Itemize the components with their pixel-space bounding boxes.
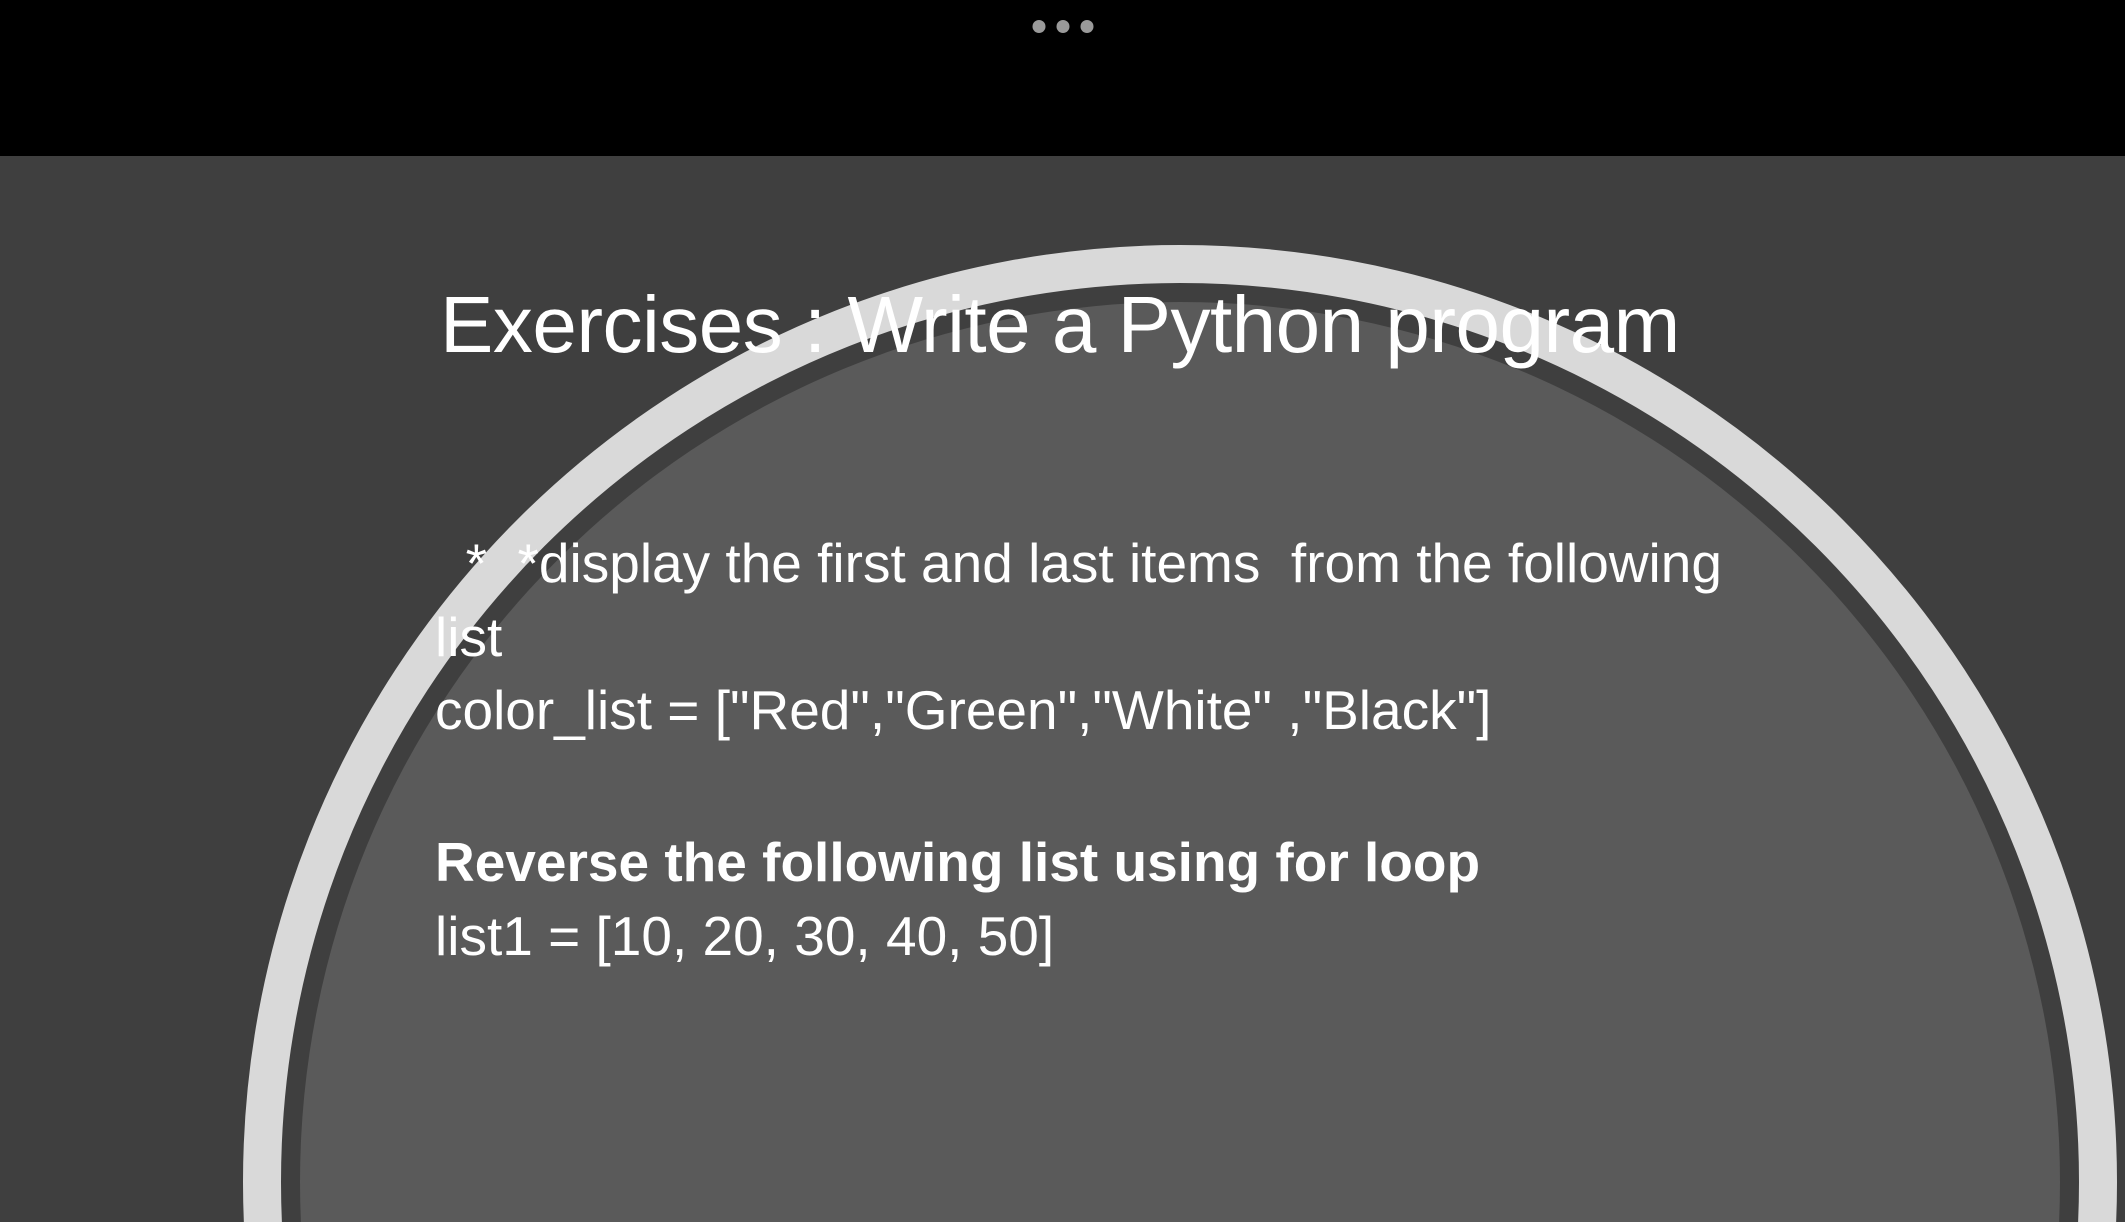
slide-viewer: Exercises : Write a Python program * *di… — [0, 0, 2125, 1222]
slide-canvas: Exercises : Write a Python program * *di… — [0, 156, 2125, 1222]
slide-body-line: * *display the first and last items from… — [435, 527, 1755, 674]
ellipsis-dot-3 — [1080, 20, 1093, 33]
ellipsis-dot-1 — [1032, 20, 1045, 33]
slide-text-layer: Exercises : Write a Python program * *di… — [0, 156, 2125, 1222]
viewer-top-bar — [0, 0, 2125, 156]
ellipsis-dot-2 — [1056, 20, 1069, 33]
slide-body-line: list1 = [10, 20, 30, 40, 50] — [435, 900, 1755, 974]
slide-title: Exercises : Write a Python program — [440, 282, 1840, 368]
ellipsis-menu-icon[interactable] — [1024, 14, 1101, 39]
slide-body: * *display the first and last items from… — [435, 527, 1755, 973]
slide-body-line: color_list = ["Red","Green","White" ,"Bl… — [435, 674, 1755, 748]
slide-body-line: Reverse the following list using for loo… — [435, 826, 1755, 900]
